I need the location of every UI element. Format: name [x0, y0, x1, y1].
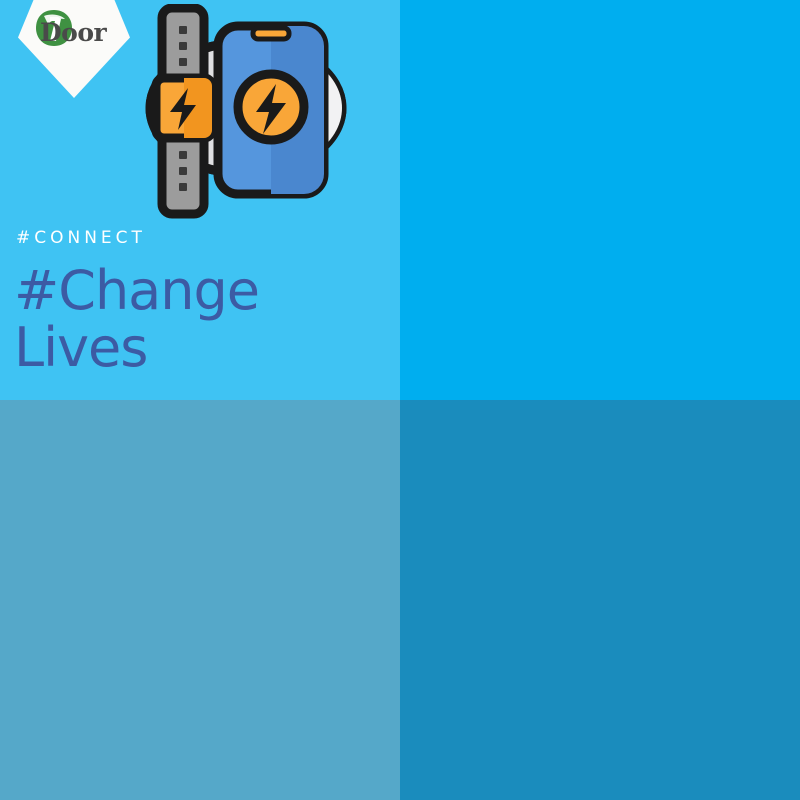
wireless-charging-watch-phone-icon [126, 4, 366, 219]
logo-wordmark: Door [40, 18, 130, 47]
panel-bottom-left: Whether you want to enjoy music on the g… [0, 400, 400, 800]
panel-top-right: Finally, a keyboard and mouse combo that… [400, 0, 800, 400]
panel-top-left: Door [0, 0, 400, 400]
headline-line-1: #Change [14, 262, 394, 319]
eyebrow-connect: #CONNECT [16, 228, 146, 248]
headline-line-2: Lives [14, 319, 394, 376]
brand-logo[interactable]: Door [18, 0, 130, 98]
panel-bottom-right: WIRELESS CONNECTIVITY wireless charging … [400, 400, 800, 800]
poster-canvas: Door [0, 0, 800, 800]
headline-change-lives: #Change Lives [14, 262, 394, 376]
